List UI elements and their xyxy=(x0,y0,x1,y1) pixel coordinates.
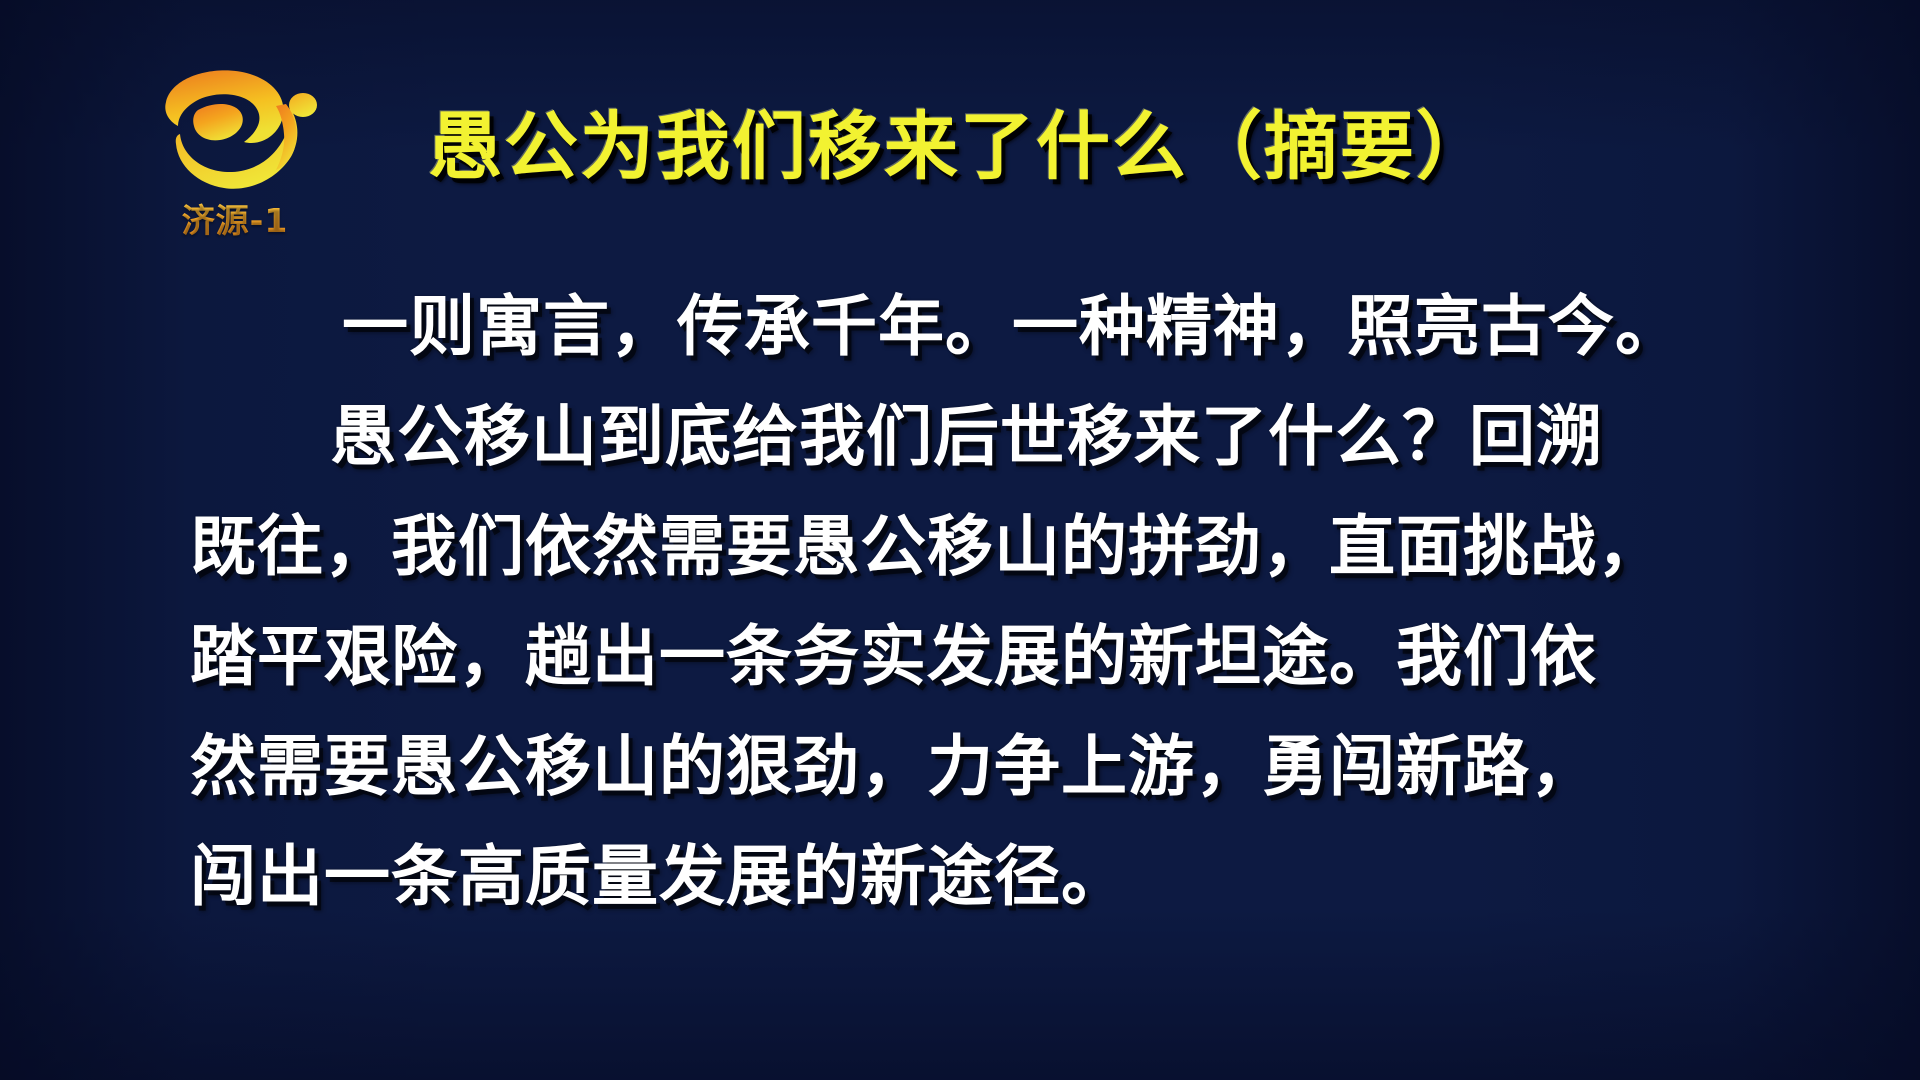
body-line: 既往，我们依然需要愚公移山的拼劲，直面挑战， xyxy=(190,492,1750,602)
body-text: 一则寓言，传承千年。一种精神，照亮古今。 愚公移山到底给我们后世移来了什么？回溯… xyxy=(190,272,1750,932)
body-line: 愚公移山到底给我们后世移来了什么？回溯 xyxy=(190,382,1750,492)
body-line: 踏平艰险，趟出一条务实发展的新坦途。我们依 xyxy=(190,602,1750,712)
body-line: 一则寓言，传承千年。一种精神，照亮古今。 xyxy=(190,272,1750,382)
body-line: 然需要愚公移山的狠劲，力争上游，勇闯新路， xyxy=(190,712,1750,822)
broadcast-title-card: 济源-1 愚公为我们移来了什么（摘要） 一则寓言，传承千年。一种精神，照亮古今。… xyxy=(0,0,1920,1080)
page-title: 愚公为我们移来了什么（摘要） xyxy=(0,110,1920,184)
channel-logo-caption: 济源-1 xyxy=(140,194,330,242)
body-line: 闯出一条高质量发展的新途径。 xyxy=(190,822,1750,932)
